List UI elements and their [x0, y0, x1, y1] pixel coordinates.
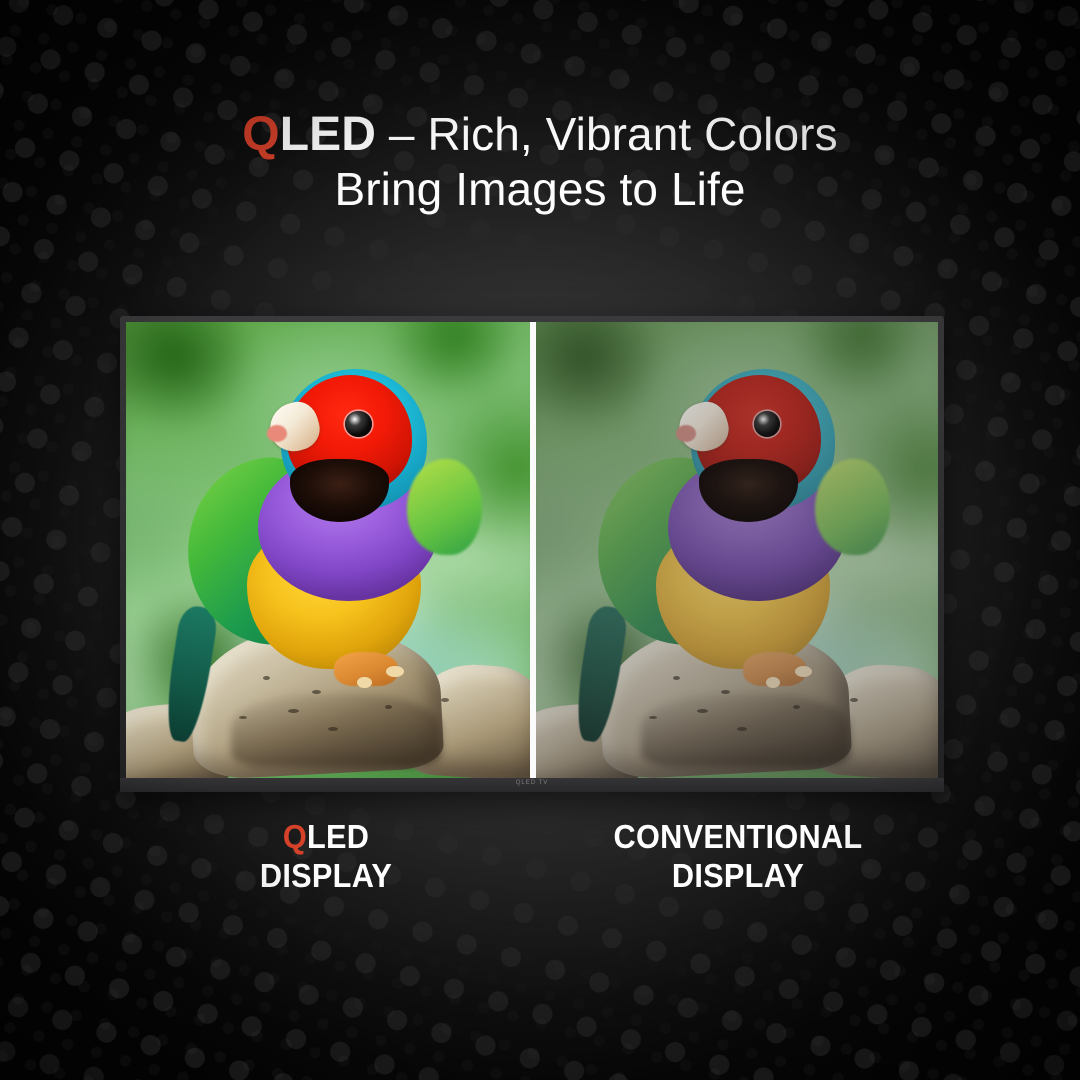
label-conventional-display: CONVENTIONAL DISPLAY — [546, 818, 929, 928]
rock-speck — [385, 705, 392, 709]
headline-brand-led: LED — [280, 108, 376, 161]
bird-eye — [345, 411, 371, 436]
bird-claw — [386, 666, 403, 677]
rock-speck — [288, 709, 299, 713]
bird-claw — [357, 677, 372, 688]
tv-chin-logo: QLED TV — [516, 780, 549, 786]
label-conventional-line-1: CONVENTIONAL — [546, 818, 929, 857]
rock-speck — [649, 716, 657, 719]
bird-nape-green — [407, 459, 483, 555]
rock-speck — [673, 676, 680, 680]
headline: QLED – Rich, Vibrant Colors Bring Images… — [0, 108, 1080, 215]
qled-panel-icon — [126, 322, 530, 778]
tv-screen — [126, 322, 938, 778]
label-conventional-line-2: DISPLAY — [546, 857, 929, 896]
label-qled-line-2: DISPLAY — [134, 857, 517, 896]
qled-photo — [126, 322, 530, 778]
promo-graphic: QLED – Rich, Vibrant Colors Bring Images… — [0, 0, 1080, 1080]
label-qled-q: Q — [283, 818, 307, 855]
tv-bezel-chin: QLED TV — [120, 778, 944, 792]
headline-line-1-rest: – Rich, Vibrant Colors — [376, 108, 838, 160]
bird-eye — [754, 411, 780, 436]
rock-speck — [697, 709, 708, 713]
headline-brand-q: Q — [242, 108, 279, 161]
bird-nape-green — [815, 459, 890, 555]
rock-speck — [850, 698, 858, 702]
label-qled-line-1: QLED — [134, 818, 517, 857]
finch-bird — [592, 386, 881, 669]
panel-labels: QLED DISPLAY CONVENTIONAL DISPLAY — [120, 818, 944, 928]
finch-bird — [183, 386, 474, 669]
label-qled-display: QLED DISPLAY — [134, 818, 517, 928]
headline-line-2: Bring Images to Life — [0, 163, 1080, 215]
rock-speck — [737, 727, 747, 731]
headline-line-1: QLED – Rich, Vibrant Colors — [0, 108, 1080, 163]
bird-claw — [795, 666, 812, 677]
conventional-panel-icon — [536, 322, 938, 778]
label-qled-rest: LED — [307, 818, 369, 855]
tv-frame: QLED TV — [120, 316, 944, 792]
rock-speck — [328, 727, 338, 731]
rock-speck — [441, 698, 449, 702]
conventional-photo — [536, 322, 938, 778]
